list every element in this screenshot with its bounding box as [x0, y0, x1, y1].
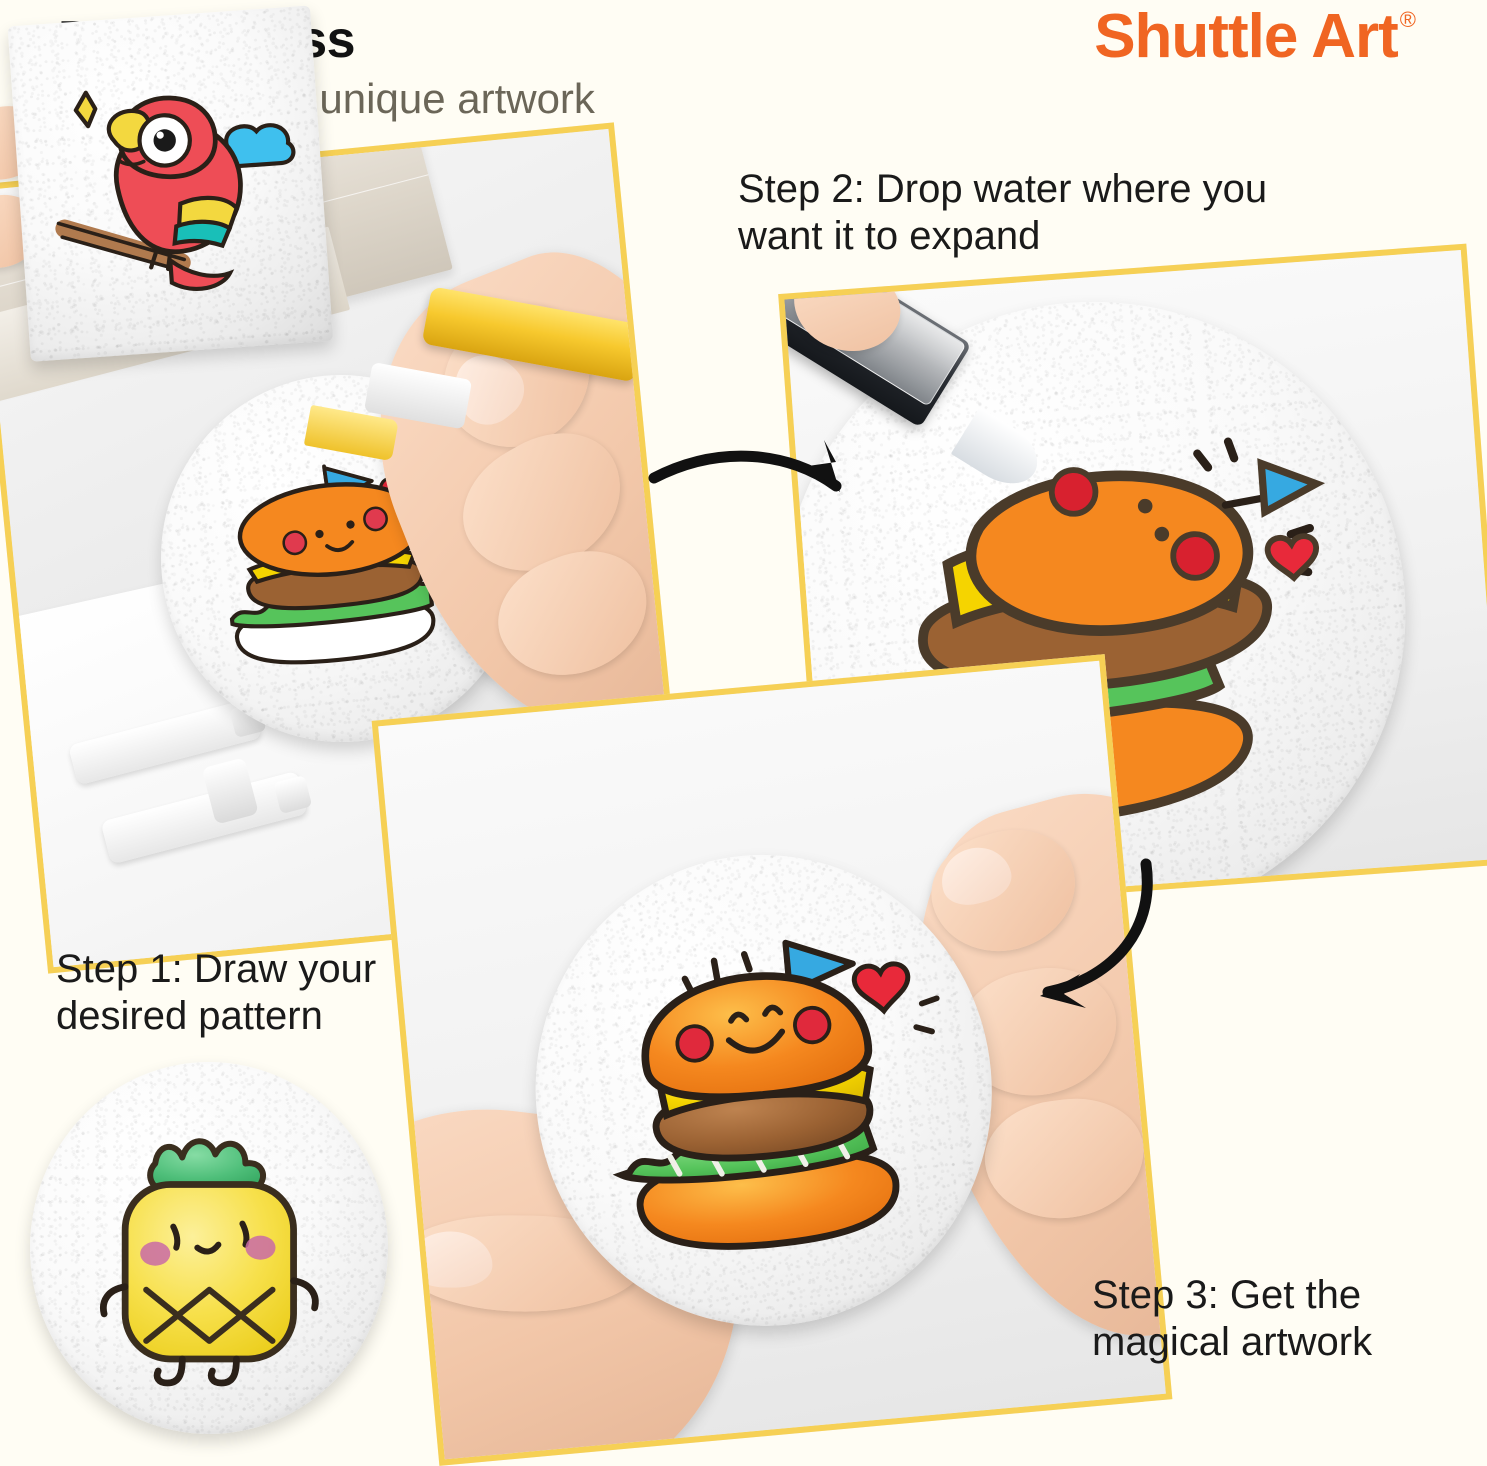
step-3-caption: Step 3: Get the magical artwork — [1092, 1272, 1487, 1366]
pineapple-blush-right — [245, 1236, 275, 1260]
sponge-coaster-round — [515, 835, 1012, 1345]
panel-photo-magical-artwork — [372, 654, 1173, 1466]
star-icon — [75, 92, 97, 127]
burger-blush-left — [283, 530, 307, 554]
panel-photo-pineapple-artwork — [30, 1062, 388, 1434]
pineapple-leg-left — [157, 1359, 182, 1383]
panel-photo-parrot-artwork — [0, 0, 344, 411]
burger-blush-right — [364, 506, 388, 530]
arrow-step2-to-step3 — [970, 850, 1210, 1050]
burger-blush-left — [1050, 469, 1097, 516]
brand-logo-text: Shuttle Art — [1094, 2, 1398, 71]
sponge-square — [7, 5, 333, 361]
burger-top-bun — [638, 967, 871, 1105]
burger-blush-right — [793, 1007, 830, 1044]
artwork-burger-puffy — [554, 867, 974, 1324]
arrow-shaft — [1048, 864, 1147, 992]
pineapple-body — [125, 1185, 293, 1359]
pineapple-leg-right — [211, 1359, 236, 1383]
registered-trademark-icon: ® — [1400, 7, 1415, 32]
burger-blush-right — [1172, 533, 1219, 580]
artwork-parrot — [21, 26, 320, 340]
artwork-pineapple — [59, 1084, 360, 1411]
infographic-stage: DIY Process Creative your unique artwork… — [0, 0, 1487, 1438]
heart-sparkles — [913, 999, 939, 1034]
arrow-step1-to-step2 — [640, 400, 900, 560]
heart-icon — [853, 963, 911, 1014]
photo-parrot-artwork — [0, 0, 316, 12]
burger-blush-left — [675, 1025, 712, 1062]
brand-logo: Shuttle Art® — [1094, 6, 1413, 68]
photo-magical-artwork — [378, 661, 1166, 1460]
sponge-coaster-round — [30, 1062, 388, 1434]
step-1-caption: Step 1: Draw your desired pattern — [56, 946, 476, 1040]
pineapple-blush-left — [140, 1242, 170, 1266]
step-2-caption: Step 2: Drop water where you want it to … — [738, 166, 1418, 260]
arrow-shaft — [654, 456, 836, 486]
flag-icon — [1261, 460, 1318, 512]
thumbnail — [408, 1232, 492, 1289]
